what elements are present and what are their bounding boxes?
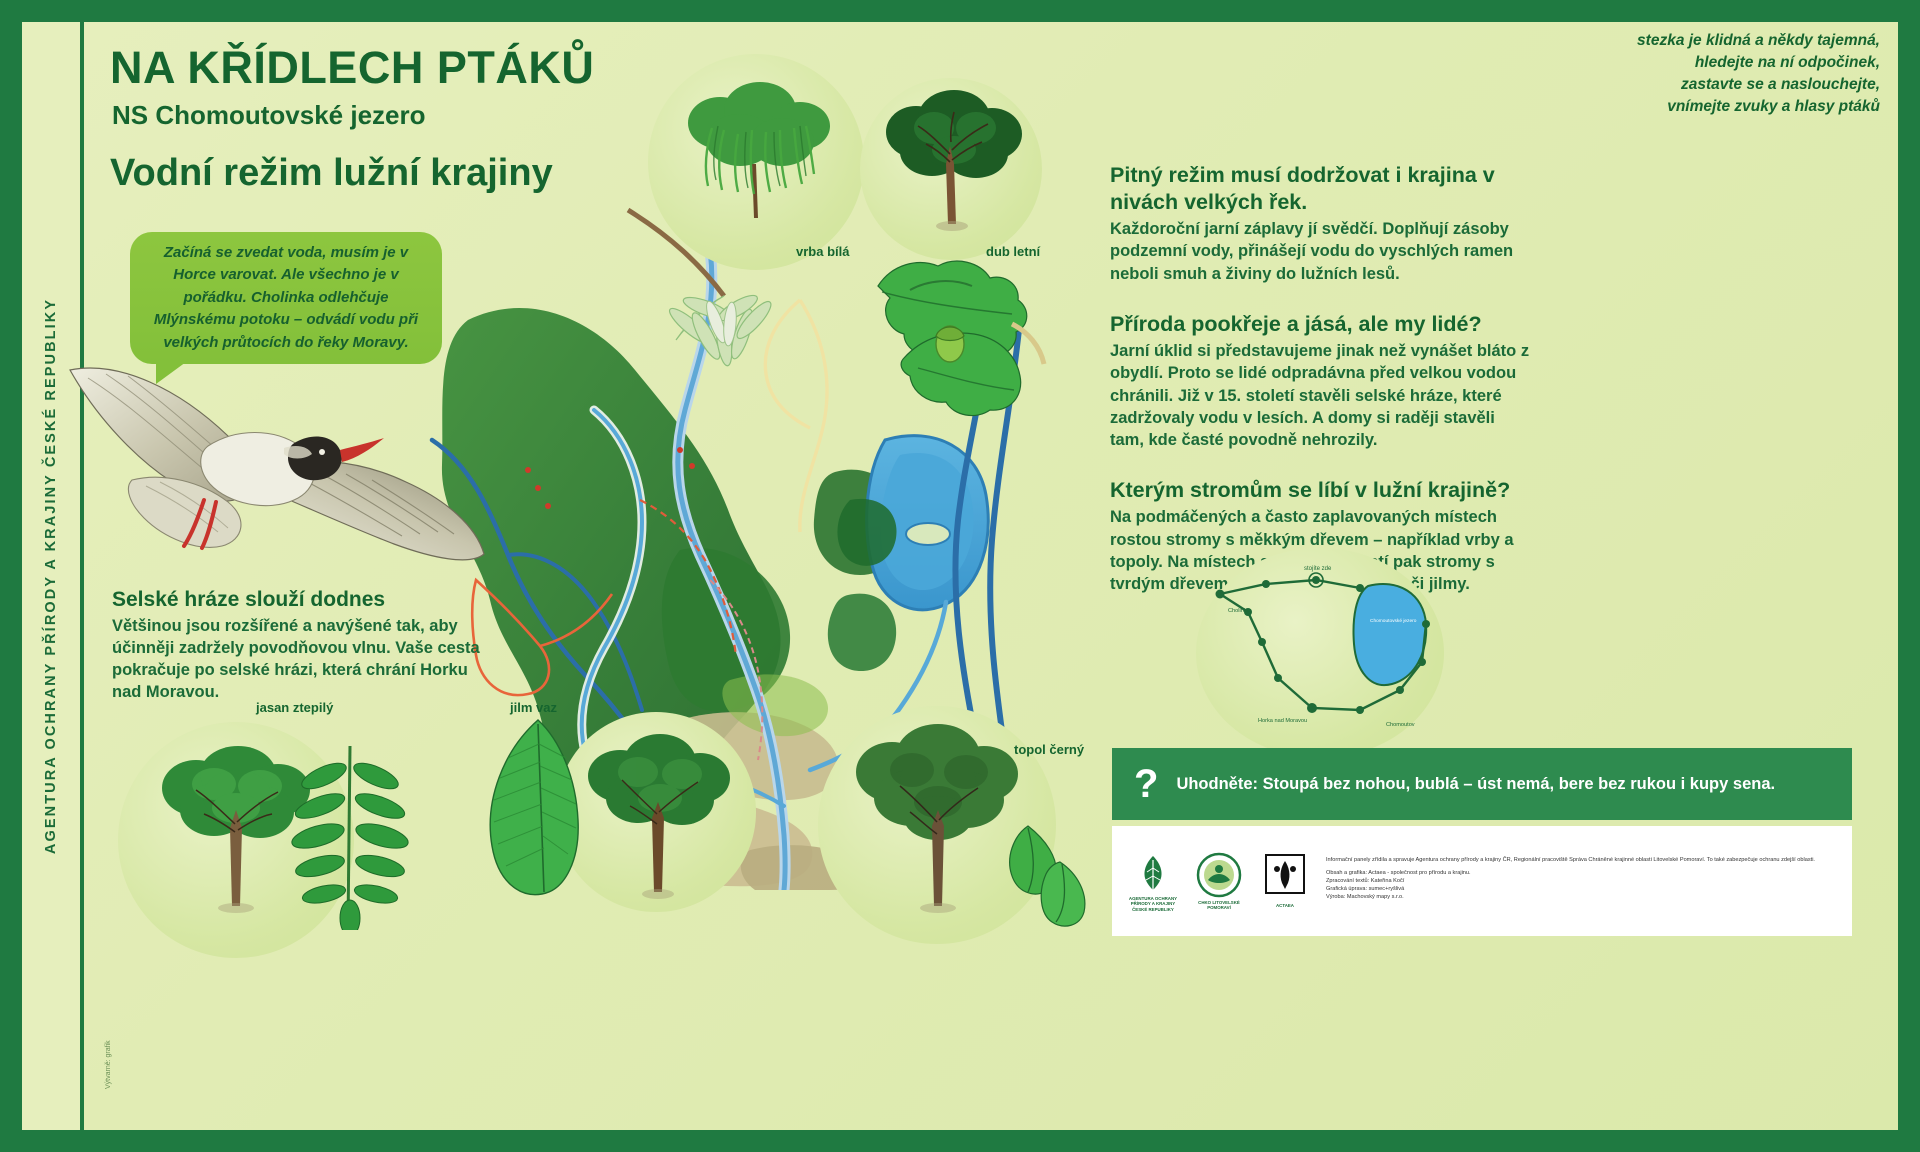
question-mark-icon: ?	[1134, 764, 1158, 804]
elm-tree-illustration	[568, 722, 748, 902]
oak-tree-illustration	[872, 84, 1032, 234]
agency-side-strip-label: AGENTURA OCHRANY PŘÍRODY A KRAJINY ČESKÉ…	[43, 298, 59, 854]
footer-logos: AGENTURA OCHRANY PŘÍRODY A KRAJINY ČESKÉ…	[1112, 844, 1326, 918]
aopk-logo: AGENTURA OCHRANY PŘÍRODY A KRAJINY ČESKÉ…	[1126, 844, 1180, 918]
section-nature-rejoices-body: Jarní úklid si představujeme jinak než v…	[1110, 340, 1530, 451]
svg-text:Chomoutov: Chomoutov	[1386, 722, 1415, 728]
svg-text:stojíte zde: stojíte zde	[1304, 566, 1332, 572]
intro-italic-text: stezka je klidná a někdy tajemná, hledej…	[1460, 30, 1880, 118]
page-title: NA KŘÍDLECH PTÁKŮ	[110, 42, 594, 94]
section-nature-rejoices: Příroda pookřeje a jásá, ale my lidé? Ja…	[1110, 311, 1530, 451]
caption-poplar: topol černý	[1014, 742, 1084, 757]
svg-text:Cholinka: Cholinka	[1228, 608, 1251, 614]
information-panel: AGENTURA OCHRANY PŘÍRODY A KRAJINY ČESKÉ…	[0, 0, 1920, 1152]
footer-credits-box: AGENTURA OCHRANY PŘÍRODY A KRAJINY ČESKÉ…	[1112, 826, 1852, 936]
section-nature-rejoices-heading: Příroda pookřeje a jásá, ale my lidé?	[1110, 311, 1530, 338]
willow-branch-illustration	[620, 200, 820, 370]
footer-credits-block1: Informační panely zřídila a spravuje Age…	[1326, 856, 1815, 864]
section-which-trees-heading: Kterým stromům se líbí v lužní krajině?	[1110, 477, 1530, 504]
riddle-text: Uhodněte: Stoupá bez nohou, bublá – úst …	[1176, 773, 1775, 795]
footer-credits-text: Informační panely zřídila a spravuje Age…	[1326, 856, 1827, 907]
svg-text:Chomoutovské jezero: Chomoutovské jezero	[1370, 618, 1417, 624]
riddle-box: ? Uhodněte: Stoupá bez nohou, bublá – ús…	[1112, 748, 1852, 820]
chko-logo: CHKO LITOVELSKÉ POMORAVÍ	[1192, 844, 1246, 918]
dams-body: Většinou jsou rozšířené a navýšené tak, …	[112, 615, 484, 703]
oak-leaf-illustration	[852, 226, 1062, 426]
page-subtitle: NS Chomoutovské jezero	[112, 100, 426, 131]
page-topic-title: Vodní režim lužní krajiny	[110, 152, 553, 195]
dams-text-block: Selské hráze slouží dodnes Většinou jsou…	[112, 588, 484, 703]
aopk-logo-caption: AGENTURA OCHRANY PŘÍRODY A KRAJINY ČESKÉ…	[1129, 896, 1177, 912]
svg-text:Horka nad Moravou: Horka nad Moravou	[1258, 718, 1307, 724]
poplar-leaf-illustration	[988, 812, 1098, 932]
section-water-regime-body: Každoroční jarní záplavy jí svědčí. Dopl…	[1110, 218, 1530, 285]
dams-heading: Selské hráze slouží dodnes	[112, 588, 484, 612]
actaea-logo-caption: ACTAEA	[1276, 903, 1294, 908]
section-water-regime-heading: Pitný režim musí dodržovat i krajina v n…	[1110, 162, 1530, 216]
speech-bubble: Začíná se zvedat voda, musím je v Horce …	[130, 232, 442, 364]
section-water-regime: Pitný režim musí dodržovat i krajina v n…	[1110, 162, 1530, 285]
speech-bubble-text: Začíná se zvedat voda, musím je v Horce …	[130, 242, 442, 355]
trail-overview-map: stojíte zde Cholinka Horka nad Moravou C…	[1200, 550, 1460, 750]
chko-logo-caption: CHKO LITOVELSKÉ POMORAVÍ	[1192, 900, 1246, 911]
artist-signature: Výtvarně: grafik	[105, 1040, 112, 1089]
ash-leaf-illustration	[286, 740, 416, 930]
caption-elm: jilm vaz	[510, 700, 557, 715]
actaea-logo: ACTAEA	[1258, 844, 1312, 918]
footer-credits-block2: Obsah a grafika: Actaea - společnost pro…	[1326, 869, 1815, 901]
